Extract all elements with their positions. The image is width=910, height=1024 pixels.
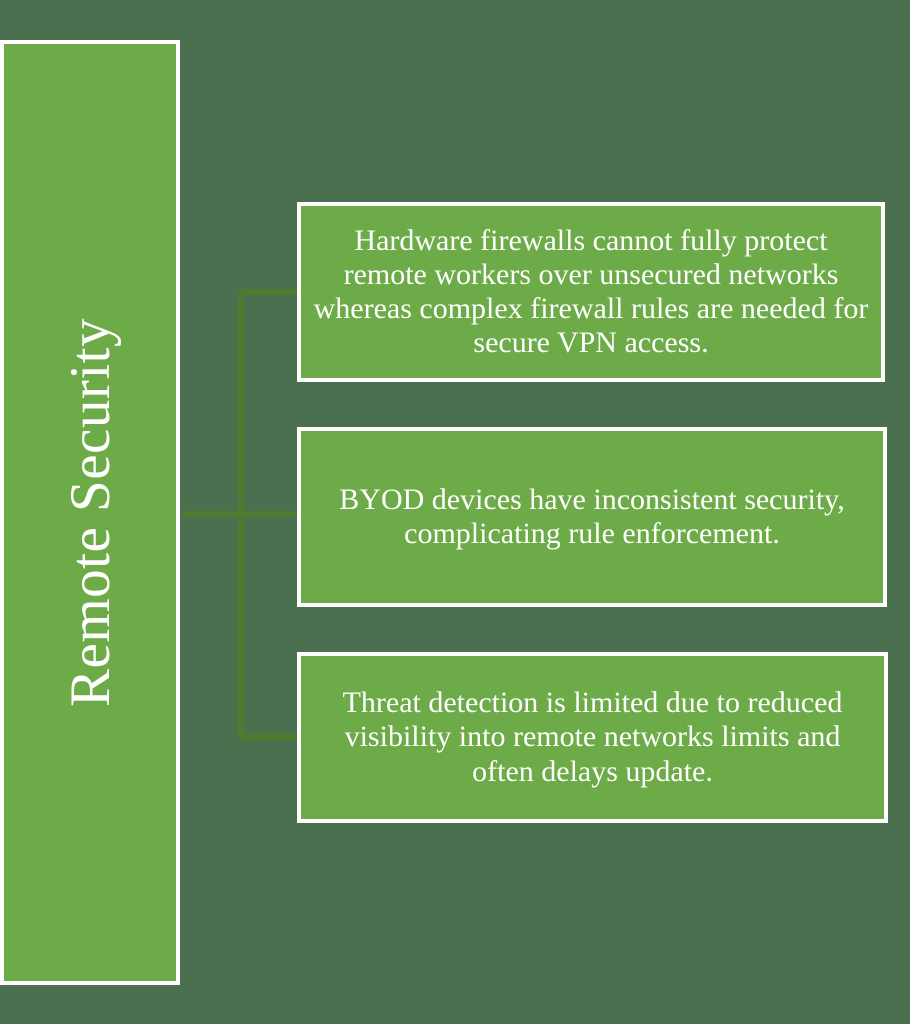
branch-node-1-label: Hardware firewalls cannot fully protect …	[311, 224, 871, 361]
branch-node-3-label: Threat detection is limited due to reduc…	[311, 686, 874, 789]
branch-node-3[interactable]: Threat detection is limited due to reduc…	[297, 652, 888, 823]
remote-security-diagram: Remote Security Hardware firewalls canno…	[0, 0, 910, 1024]
branch-node-1[interactable]: Hardware firewalls cannot fully protect …	[297, 202, 885, 382]
root-node-remote-security[interactable]: Remote Security	[0, 40, 180, 985]
branch-node-2-label: BYOD devices have inconsistent security,…	[311, 483, 873, 551]
root-node-label: Remote Security	[62, 318, 119, 707]
branch-node-2[interactable]: BYOD devices have inconsistent security,…	[297, 427, 887, 607]
